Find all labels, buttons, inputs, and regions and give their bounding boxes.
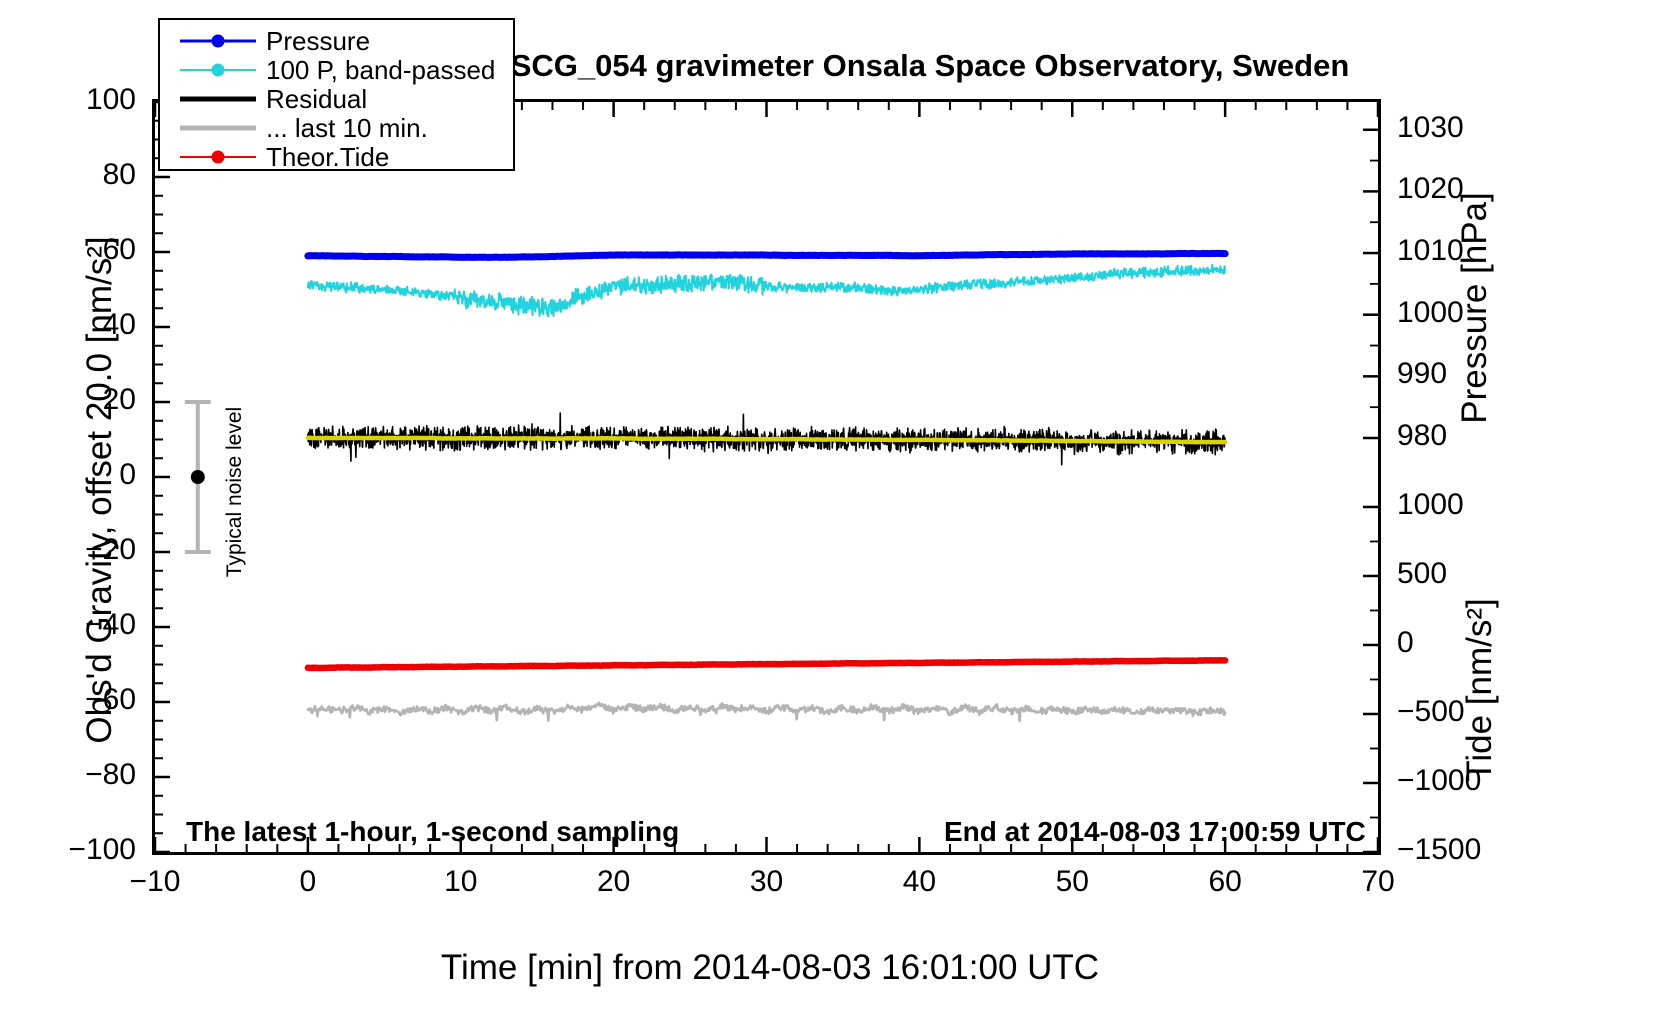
legend-item-label: Theor.Tide [266,142,389,173]
legend-item-band-passed[interactable]: 100 P, band-passed [160,56,513,84]
legend-swatch-icon [176,28,260,54]
y-axis-left-tick-label: 100 [6,83,136,117]
x-axis-tick-label: 0 [238,865,378,899]
legend-line-icon [180,126,256,131]
series-pressure [308,253,1225,257]
chart-title: SCG_054 gravimeter Onsala Space Observat… [430,48,1430,84]
legend-item-pressure[interactable]: Pressure [160,27,513,55]
legend-line-icon [180,97,256,102]
x-axis-tick-label: 10 [391,865,531,899]
legend-swatch-icon [176,57,260,83]
x-axis-tick-label: 60 [1155,865,1295,899]
plot-canvas [155,102,1378,852]
y-axis-tide-label: Tide [nm/s²] [1460,520,1500,860]
typical-noise-level-label: Typical noise level [223,377,247,607]
legend-marker-icon [212,64,225,77]
x-axis-tick-label: 70 [1308,865,1448,899]
legend-item-label: ... last 10 min. [266,113,428,144]
x-axis-tick-label: 20 [544,865,684,899]
note-sampling: The latest 1-hour, 1-second sampling [186,816,679,848]
chart-legend: Pressure100 P, band-passedResidual... la… [158,18,515,171]
legend-swatch-icon [176,115,260,141]
x-axis-tick-label: 50 [1002,865,1142,899]
series-theor-tide [308,660,1225,668]
y-axis-pressure-label: Pressure [hPa] [1455,88,1495,528]
x-axis-tick-label: 30 [697,865,837,899]
legend-item-label: 100 P, band-passed [266,55,495,86]
y-axis-left-label: Obs'd Gravity, offset 20.0 [nm/s²] [80,140,120,840]
legend-item-label: Residual [266,84,367,115]
legend-item-residual[interactable]: Residual [160,85,513,113]
note-end-time: End at 2014-08-03 17:00:59 UTC [944,816,1366,848]
series-last-10-min [308,703,1225,721]
typical-noise-level-marker [185,402,211,552]
legend-item-label: Pressure [266,26,370,57]
plot-area [152,99,1381,855]
x-axis-label: Time [min] from 2014-08-03 16:01:00 UTC [160,948,1380,988]
x-axis-tick-label: −10 [85,865,225,899]
series-band-passed [308,265,1225,316]
legend-marker-icon [212,35,225,48]
x-axis-tick-label: 40 [849,865,989,899]
legend-marker-icon [212,151,225,164]
legend-item-theor-tide[interactable]: Theor.Tide [160,143,513,171]
legend-item-last-10-min[interactable]: ... last 10 min. [160,114,513,142]
legend-swatch-icon [176,144,260,170]
chart-root: SCG_054 gravimeter Onsala Space Observat… [0,0,1660,1020]
legend-swatch-icon [176,86,260,112]
